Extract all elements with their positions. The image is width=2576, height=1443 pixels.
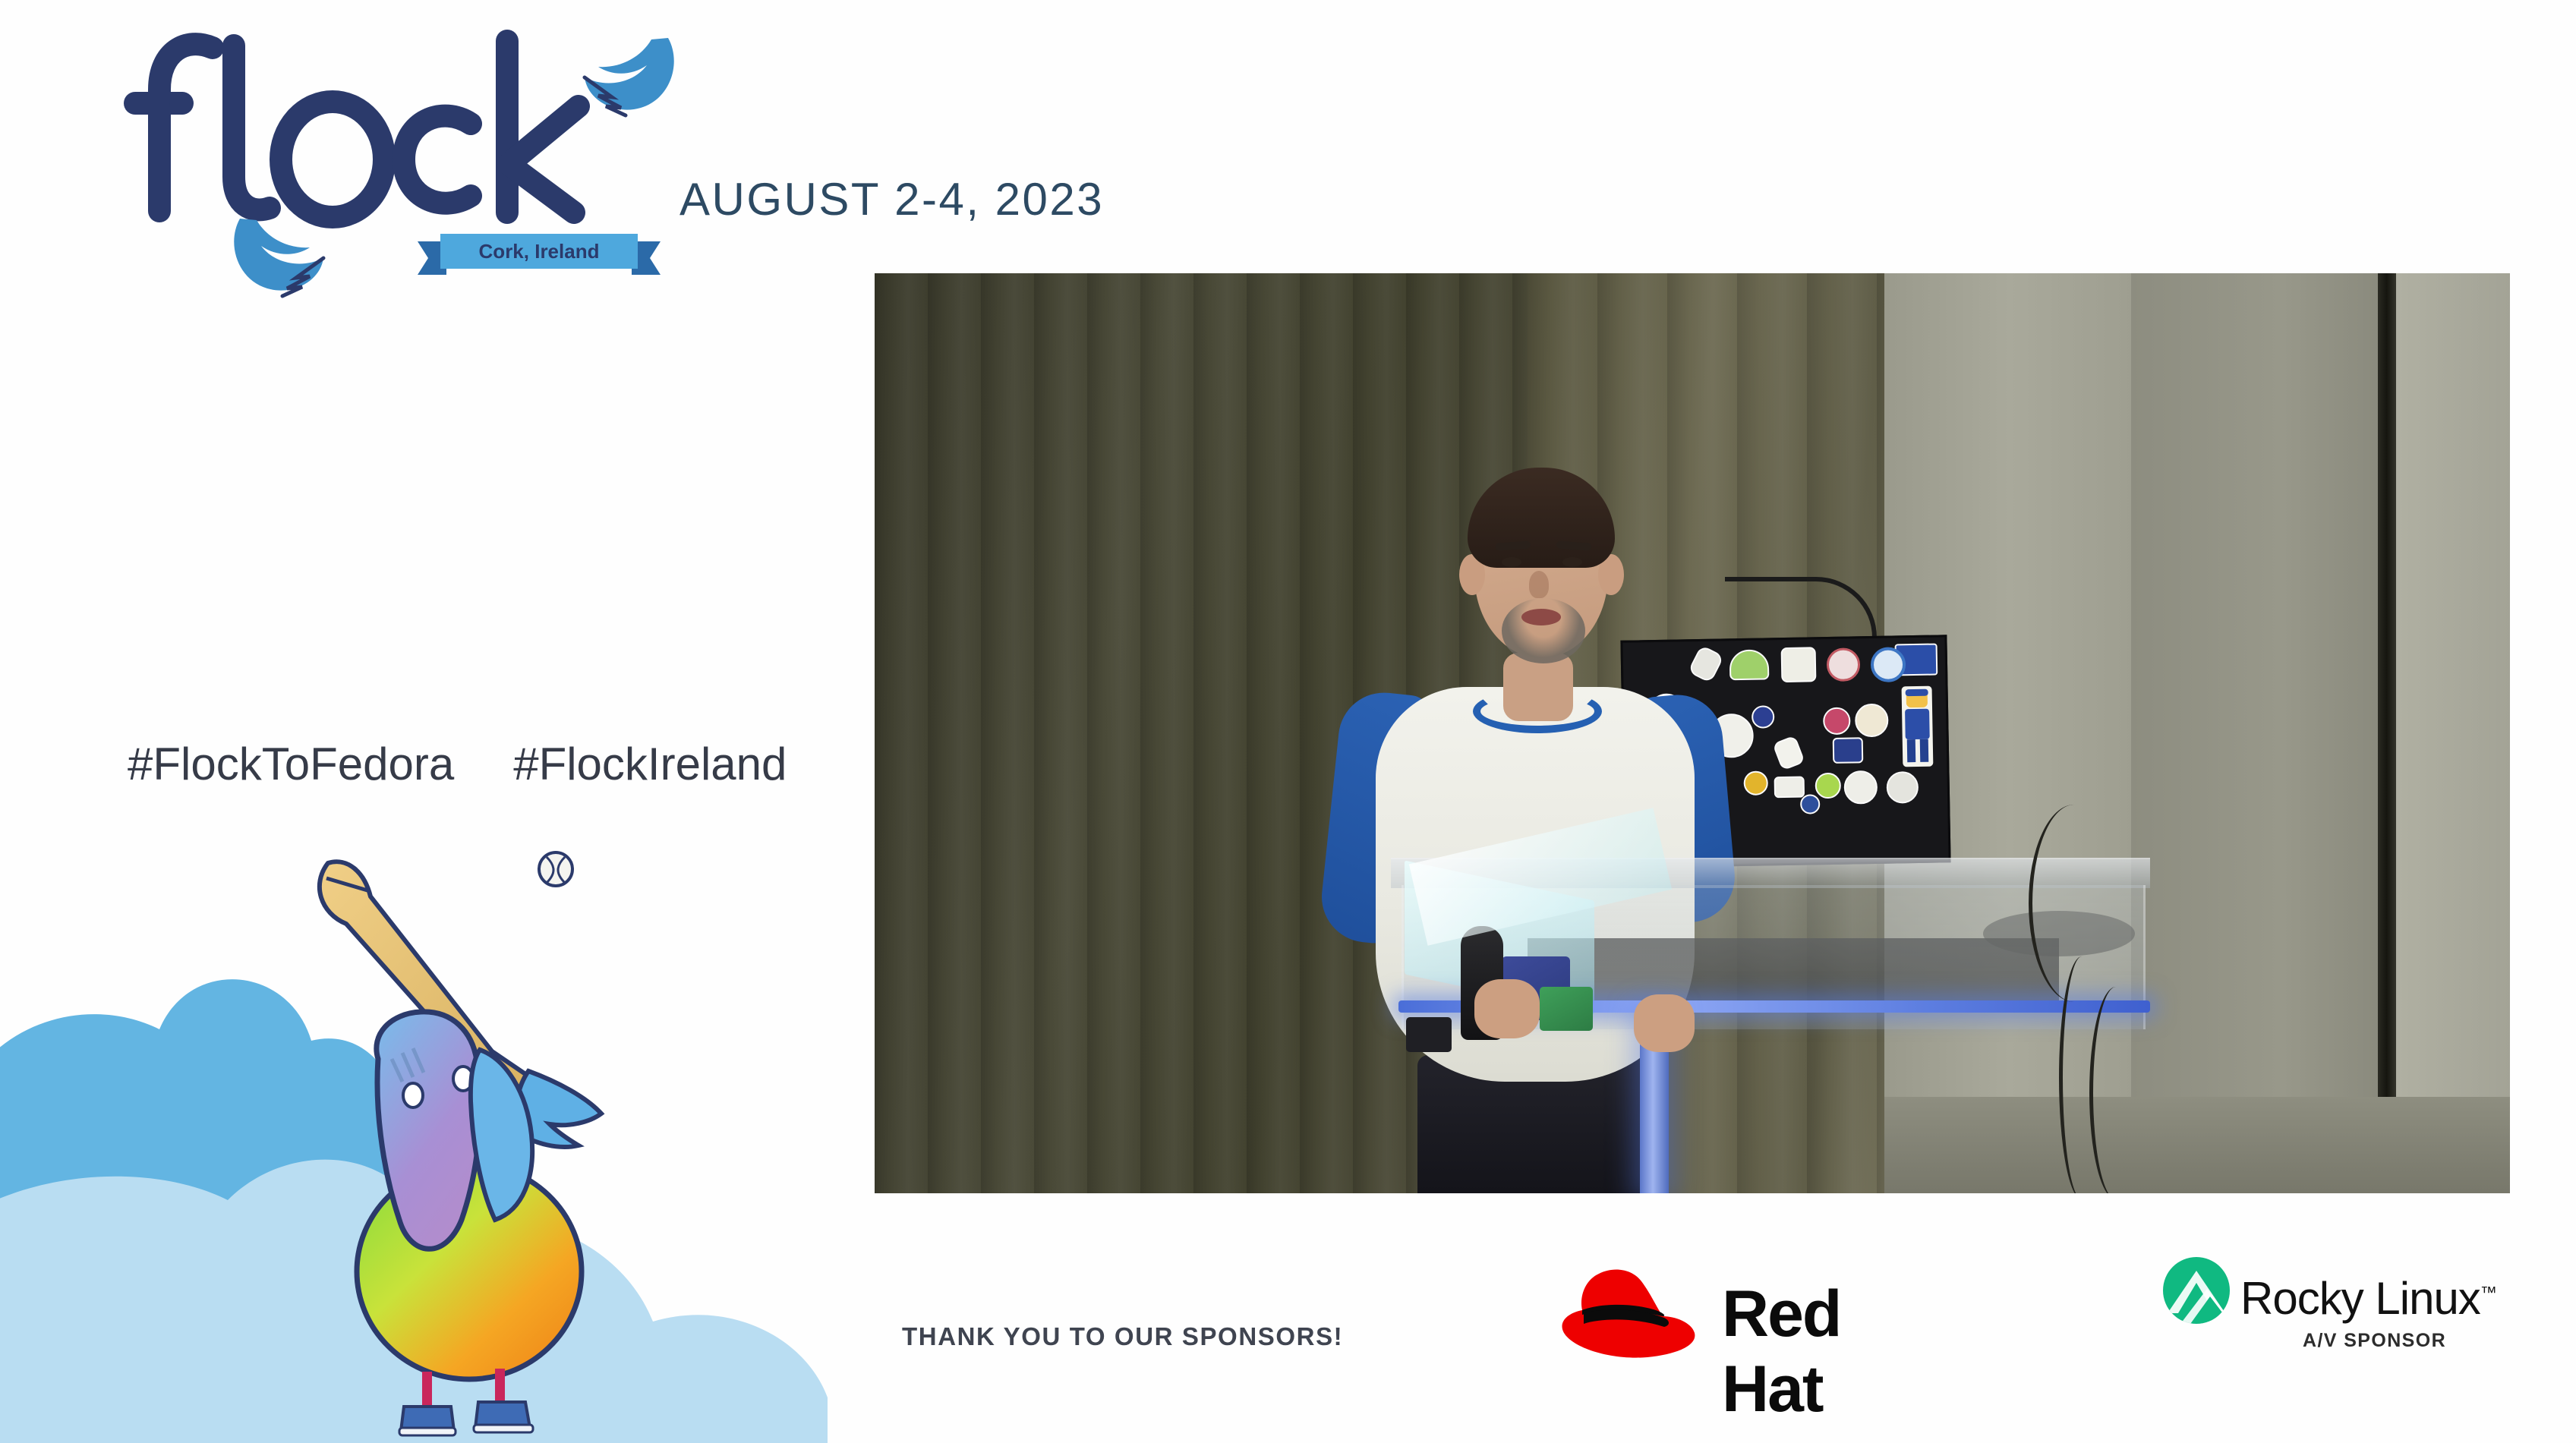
hashtag-secondary: #FlockIreland [513, 739, 787, 789]
wall-edge [2378, 273, 2398, 1193]
trademark-mark: ™ [2480, 1283, 2497, 1302]
speaker-lanyard-card [1540, 987, 1593, 1031]
flock-wordmark [114, 14, 615, 226]
speaker-mouth [1521, 609, 1561, 625]
sponsor-logo-rocky-linux[interactable]: Rocky Linux™ A/V SPONSOR [2160, 1254, 2479, 1375]
event-date: AUGUST 2-4, 2023 [679, 173, 1104, 225]
sticker [1772, 735, 1805, 770]
location-ribbon-label: Cork, Ireland [479, 240, 600, 263]
mascot-shoe [474, 1402, 533, 1432]
av-cable [2089, 987, 2142, 1193]
sticker [1743, 770, 1768, 796]
sticker [1774, 777, 1805, 799]
sponsor-name-rocky-linux: Rocky Linux™ [2240, 1272, 2497, 1325]
speaker-beard [1502, 598, 1585, 663]
conference-stream-video[interactable] [875, 273, 2510, 1193]
sticker [1751, 705, 1775, 729]
floor [1884, 1097, 2510, 1193]
speaker-hand [1474, 979, 1540, 1038]
hashtag-primary: #FlockToFedora [128, 739, 454, 789]
sticker [1688, 644, 1724, 683]
red-fedora-hat-icon [1556, 1260, 1708, 1366]
sticker [1855, 704, 1889, 738]
feather-icon [226, 196, 333, 298]
speaker-hand [1634, 994, 1695, 1052]
sticker [1827, 647, 1861, 682]
hashtag-row: #FlockToFedora#FlockIreland [128, 738, 787, 790]
speaker-nose [1529, 571, 1549, 598]
flock-bird-mascot [288, 831, 645, 1438]
sticker [1823, 707, 1851, 736]
location-ribbon: Cork, Ireland [418, 228, 661, 287]
feather-icon [575, 23, 682, 125]
lego-figure-sticker [1898, 685, 1936, 769]
sponsors-heading: THANK YOU TO OUR SPONSORS! [902, 1322, 1343, 1351]
rocky-mountain-circle-icon [2160, 1254, 2233, 1327]
slide-canvas: Cork, Ireland AUGUST 2-4, 2023 #FlockToF… [0, 0, 2576, 1443]
wall-panel [2396, 273, 2510, 1193]
flock-logo: Cork, Ireland [114, 14, 615, 279]
sticker [1781, 647, 1817, 682]
sponsor-name-red-hat: Red Hat [1722, 1277, 1951, 1427]
sticker [1800, 794, 1820, 814]
speaker-badge [1406, 1017, 1452, 1052]
sticker [1871, 647, 1906, 682]
sticker [1833, 737, 1864, 764]
wall-panel [2131, 273, 2382, 1193]
sticker [1729, 649, 1770, 680]
sponsor-logo-red-hat[interactable]: Red Hat [1556, 1260, 1951, 1366]
mascot-shoe [399, 1407, 456, 1435]
speaker-eye [1502, 557, 1521, 567]
speaker-eye [1562, 557, 1582, 567]
sticker [1843, 770, 1878, 805]
sticker [1886, 771, 1919, 804]
mascot-eye [403, 1083, 423, 1107]
sliotar-ball [539, 852, 572, 886]
sponsor-role-rocky-linux: A/V SPONSOR [2303, 1330, 2446, 1352]
rocky-label: Rocky Linux [2240, 1273, 2480, 1324]
sticker [1815, 773, 1842, 799]
